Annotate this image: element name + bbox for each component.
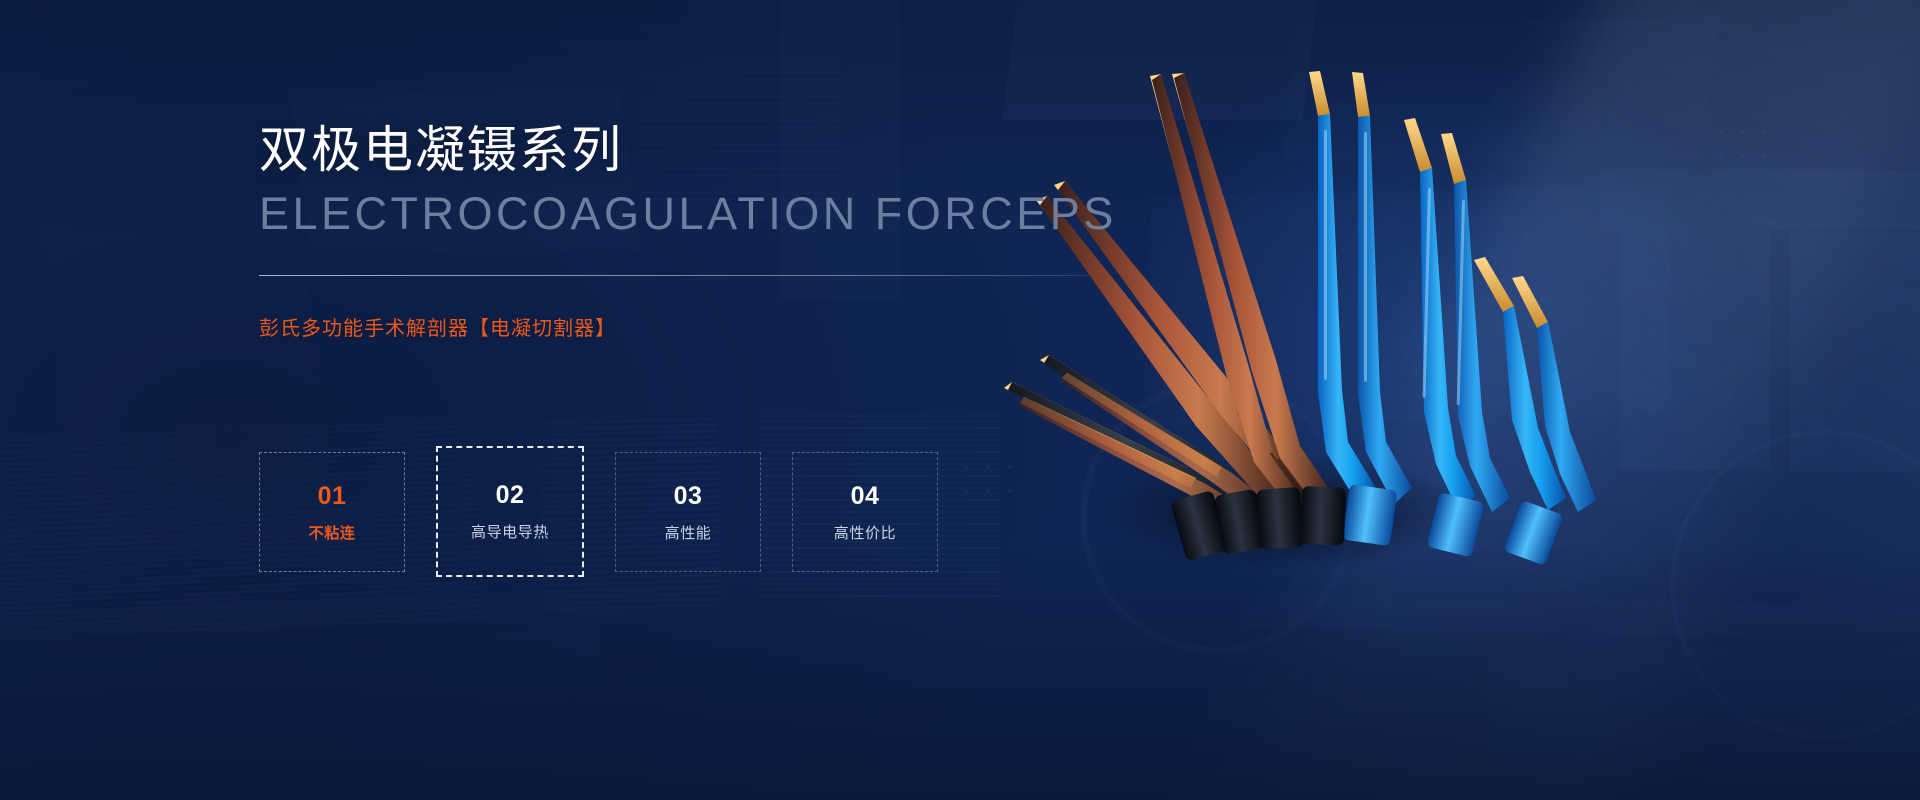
- feature-item-01[interactable]: 01 不粘连: [259, 452, 405, 572]
- feature-number: 04: [851, 484, 880, 509]
- product-banner: 双极电凝镊系列 ELECTROCOAGULATION FORCEPS 彭氏多功能…: [0, 0, 1920, 800]
- feature-list: 01 不粘连 02 高导电导热 03 高性能 04 高性价比: [259, 452, 938, 577]
- feature-label: 高性价比: [834, 526, 896, 541]
- feature-item-03[interactable]: 03 高性能: [615, 452, 761, 572]
- feature-label: 高性能: [665, 526, 712, 541]
- feature-item-02[interactable]: 02 高导电导热: [436, 446, 584, 577]
- feature-number: 01: [318, 484, 347, 509]
- banner-text-block: 双极电凝镊系列 ELECTROCOAGULATION FORCEPS 彭氏多功能…: [259, 120, 1089, 341]
- feature-label: 不粘连: [309, 526, 356, 541]
- feature-number: 03: [674, 484, 703, 509]
- feature-item-04[interactable]: 04 高性价比: [792, 452, 938, 572]
- feature-number: 02: [496, 483, 525, 508]
- product-name-label: 彭氏多功能手术解剖器【电凝切割器】: [259, 312, 1089, 341]
- page-title: 双极电凝镊系列: [259, 120, 1089, 180]
- title-divider: [259, 275, 1089, 276]
- feature-label: 高导电导热: [471, 525, 549, 540]
- page-subtitle-english: ELECTROCOAGULATION FORCEPS: [259, 190, 1089, 239]
